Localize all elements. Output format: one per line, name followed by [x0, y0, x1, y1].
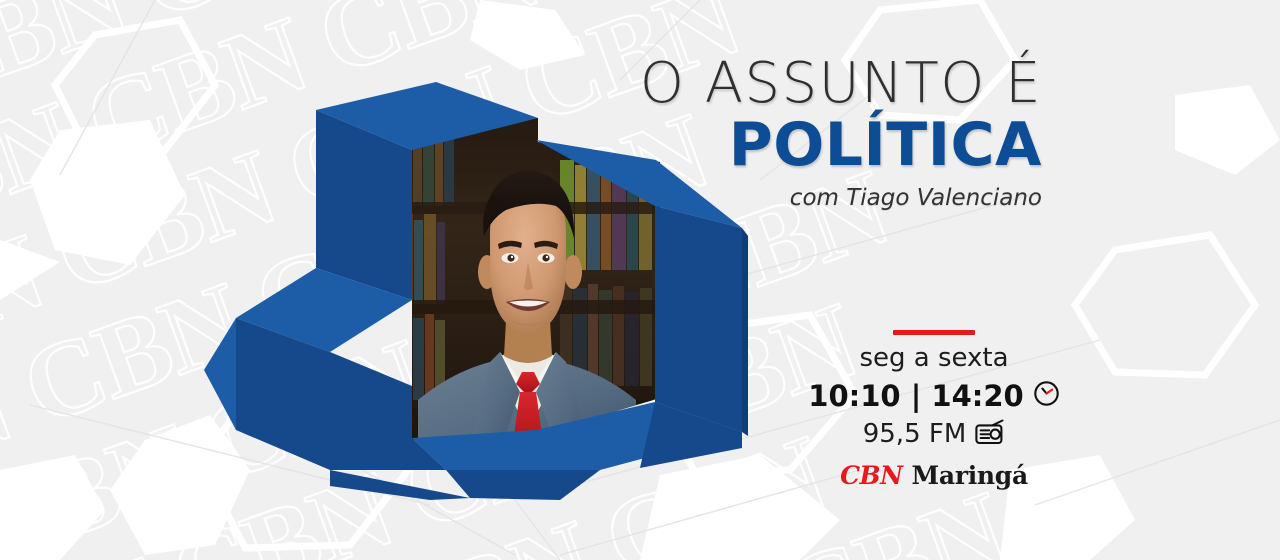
- schedule-times: 10:10 | 14:20: [808, 379, 1023, 413]
- cbn-logo-mark: CBN: [840, 461, 902, 490]
- cbn-maringa-logo: CBN Maringá: [824, 461, 1044, 490]
- schedule-block: seg a sexta 10:10 | 14:20 95,5 FM: [824, 330, 1044, 490]
- clock-icon: [1033, 380, 1060, 412]
- show-title-line-2: POLÍTICA: [640, 114, 1042, 177]
- show-host-byline: com Tiago Valenciano: [640, 185, 1042, 213]
- schedule-frequency-row: 95,5 FM: [824, 419, 1044, 450]
- radio-show-banner: CBN CBN CBN CBN CBN CBN CBN CBN CBN CBN …: [0, 0, 1280, 560]
- radio-icon: [975, 419, 1005, 450]
- show-title-block: O ASSUNTO É POLÍTICA com Tiago Valencian…: [640, 56, 1042, 213]
- schedule-times-row: 10:10 | 14:20: [824, 379, 1044, 413]
- schedule-frequency: 95,5 FM: [863, 419, 967, 449]
- cbn-logo-city: Maringá: [912, 461, 1028, 490]
- show-title-line-1: O ASSUNTO É: [640, 56, 1042, 112]
- red-divider-rule: [893, 330, 975, 335]
- schedule-days: seg a sexta: [824, 344, 1044, 373]
